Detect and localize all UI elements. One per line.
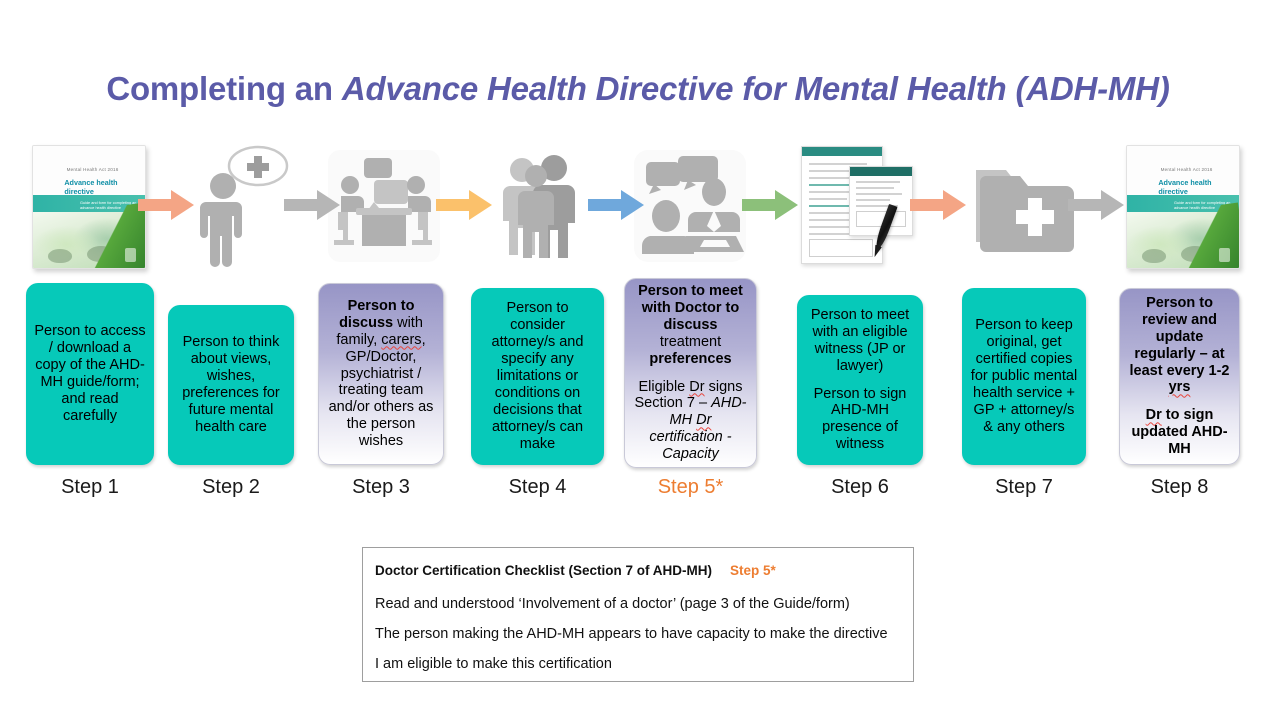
step-paragraph: Person to consider attorney/s and specif… <box>479 300 596 453</box>
step-paragraph: Dr to sign updated AHD-MH <box>1127 407 1232 458</box>
step-text-run: carers <box>381 332 421 348</box>
step-text-run: Person to review and update regularly – … <box>1130 295 1230 379</box>
icon-slot-step-4 <box>474 140 604 270</box>
icon-slot-step-8: Mental Health Act 2016Advance health dir… <box>1118 140 1248 270</box>
step-box-2: Person to think about views, wishes, pre… <box>168 305 294 465</box>
booklet-act-line: Mental Health Act 2016 <box>1161 167 1213 172</box>
checklist-title: Doctor Certification Checklist (Section … <box>375 563 901 578</box>
arrow-slot-2 <box>284 188 340 222</box>
step-box-1: Person to access / download a copy of th… <box>26 283 154 465</box>
step-label-5: Step 5* <box>616 476 766 499</box>
step-text-run: Person to meet with an eligible witness … <box>811 307 909 374</box>
step-box-4: Person to consider attorney/s and specif… <box>471 288 604 465</box>
arrow-2 <box>284 188 340 222</box>
step-paragraph: Person to access / download a copy of th… <box>34 323 146 425</box>
step-label-1: Step 1 <box>15 476 165 499</box>
doctor-certification-checklist: Doctor Certification Checklist (Section … <box>362 547 914 682</box>
step-label-2: Step 2 <box>156 476 306 499</box>
arrow-6 <box>910 188 966 222</box>
step-label-4: Step 4 <box>463 476 613 499</box>
arrow-1 <box>138 188 194 222</box>
step-text-run: Person to consider attorney/s and specif… <box>492 300 584 452</box>
step-text-run: , GP/Doctor, psychiatrist / treating tea… <box>329 332 434 450</box>
step-paragraph: Person to keep original, get certified c… <box>970 317 1078 436</box>
step-text-run: Person to access / download a copy of th… <box>34 323 145 424</box>
step-text-run: certification - Capacity <box>649 429 731 462</box>
checklist-item-1: Read and understood ‘Involvement of a do… <box>375 596 901 612</box>
group-of-people-icon <box>474 140 604 270</box>
step-label-6: Step 6 <box>785 476 935 499</box>
step-label-3: Step 3 <box>306 476 456 499</box>
checklist-title-text: Doctor Certification Checklist (Section … <box>375 563 712 578</box>
step-text-run: Eligible <box>639 379 690 395</box>
arrow-4 <box>588 188 644 222</box>
arrow-slot-6 <box>910 188 966 222</box>
step-box-5: Person to meet with Doctor to discuss tr… <box>624 278 757 468</box>
checklist-items: Read and understood ‘Involvement of a do… <box>375 596 901 672</box>
step-text-run: Person to sign AHD-MH presence of witnes… <box>814 386 907 453</box>
arrow-7 <box>1068 188 1124 222</box>
step-text-run: Dr <box>696 412 711 428</box>
step-paragraph: Person to review and update regularly – … <box>1127 295 1232 397</box>
page-title-emphasis: Advance Health Directive for Mental Heal… <box>342 70 1170 107</box>
booklet-cover-image: Mental Health Act 2016Advance health dir… <box>1126 145 1240 269</box>
checklist-item-2: The person making the AHD-MH appears to … <box>375 626 901 642</box>
arrow-slot-4 <box>588 188 644 222</box>
step-paragraph: Eligible Dr signs Section 7 – AHD-MH Dr … <box>632 379 749 464</box>
icon-slot-step-6 <box>795 140 925 270</box>
step-label-7: Step 7 <box>949 476 1099 499</box>
step-paragraph: Person to discuss with family, carers, G… <box>326 298 436 451</box>
step-paragraph: Person to meet with an eligible witness … <box>805 307 915 375</box>
arrow-slot-1 <box>138 188 194 222</box>
step-box-8: Person to review and update regularly – … <box>1119 288 1240 465</box>
step-text-run: yrs <box>1169 379 1191 395</box>
step-box-6: Person to meet with an eligible witness … <box>797 295 923 465</box>
icon-slot-step-1: Mental Health Act 2016Advance health dir… <box>24 140 154 270</box>
icon-slot-step-5 <box>626 140 756 270</box>
step-text-run: Person to meet with Doctor to discuss <box>638 283 743 333</box>
step-text-run: Person to think about views, wishes, pre… <box>182 334 280 435</box>
checklist-step-tag: Step 5* <box>730 563 776 578</box>
step-paragraph: Person to think about views, wishes, pre… <box>176 334 286 436</box>
step-label-8: Step 8 <box>1105 476 1255 499</box>
doctor-consultation-icon <box>626 140 756 270</box>
arrow-slot-3 <box>436 188 492 222</box>
step-text-run: Dr <box>1146 407 1162 423</box>
booklet-cover-image: Mental Health Act 2016Advance health dir… <box>32 145 146 269</box>
step-text-run: Person to keep original, get certified c… <box>971 317 1077 435</box>
step-box-7: Person to keep original, get certified c… <box>962 288 1086 465</box>
step-text-run: treatment <box>660 334 721 350</box>
step-text-run: Dr <box>689 379 704 395</box>
step-paragraph: Person to sign AHD-MH presence of witnes… <box>805 386 915 454</box>
step-box-3: Person to discuss with family, carers, G… <box>318 283 444 465</box>
arrow-slot-5 <box>742 188 798 222</box>
page-title: Completing an Advance Health Directive f… <box>0 70 1276 108</box>
arrow-slot-7 <box>1068 188 1124 222</box>
step-paragraph: Person to meet with Doctor to discuss tr… <box>632 283 749 368</box>
process-icon-strip: Mental Health Act 2016Advance health dir… <box>0 140 1276 270</box>
form-with-pen-image <box>795 142 925 268</box>
booklet-act-line: Mental Health Act 2016 <box>67 167 119 172</box>
page-title-lead: Completing an <box>106 70 342 107</box>
arrow-5 <box>742 188 798 222</box>
arrow-3 <box>436 188 492 222</box>
step-text-run: preferences <box>649 351 731 367</box>
checklist-item-3: I am eligible to make this certification <box>375 656 901 672</box>
